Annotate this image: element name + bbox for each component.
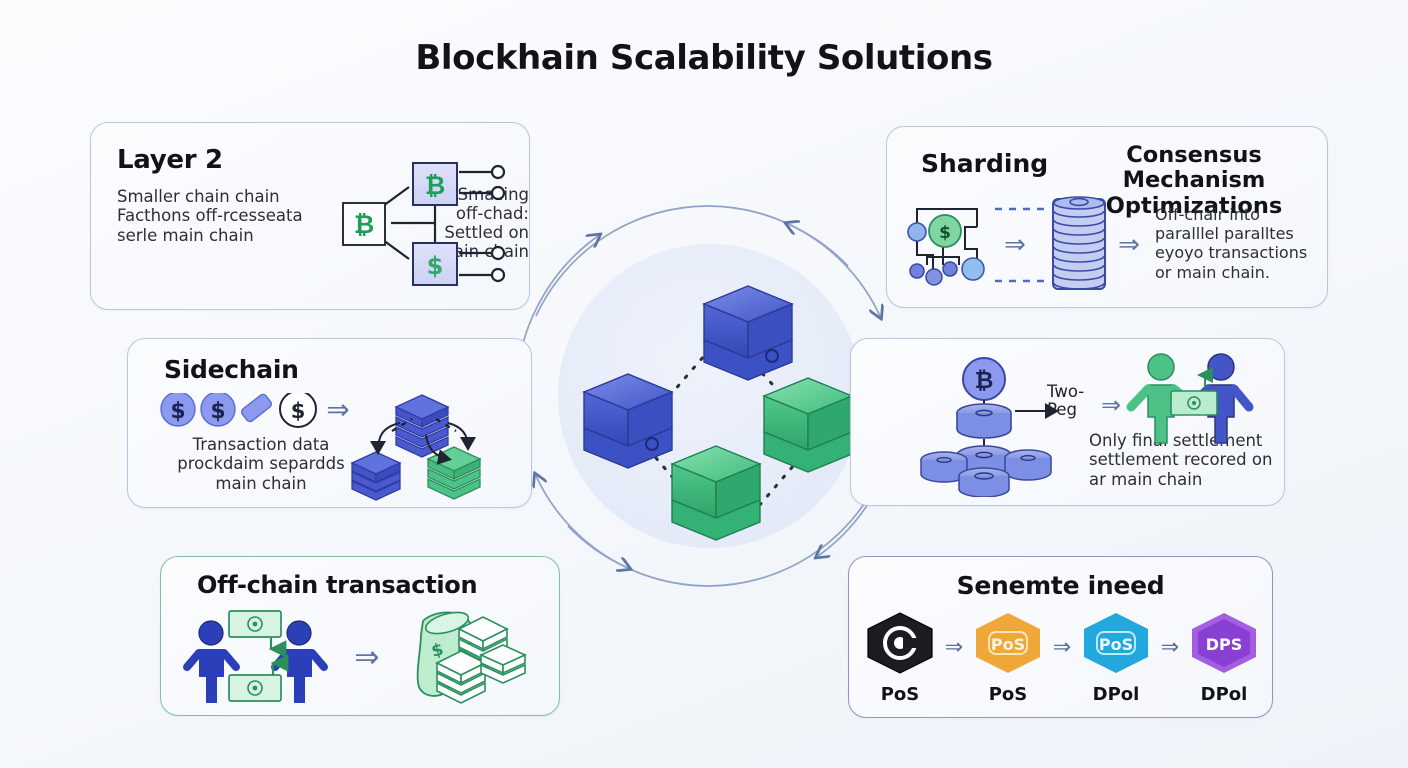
card-sidechain-title: Sidechain — [164, 355, 299, 384]
sidechain-diagram: $ $ $ ⇒ — [156, 393, 516, 503]
handshake-cash-icon — [1131, 354, 1249, 443]
arrow-right-icon: ⇒ — [1101, 391, 1121, 419]
arrow-right-icon: ⇒ — [1118, 230, 1140, 260]
svg-text:$: $ — [210, 399, 225, 424]
card-consensus-chain[interactable]: Senemte ineed PoS ⇒ PoS P — [848, 556, 1273, 718]
consensus-step-2-label: PoS — [971, 684, 1045, 705]
coin-stack-icon — [1053, 197, 1105, 289]
shard-network-icon: $ — [908, 209, 984, 285]
arrow-right-icon: ⇒ — [354, 640, 379, 675]
consensus-step-4-label: DPol — [1187, 684, 1261, 705]
sharding-diagram: $ ⇒ — [903, 193, 1153, 297]
hexagon-dark-icon — [863, 611, 937, 675]
svg-text:₿: ₿ — [975, 368, 994, 394]
infographic-canvas: Blockhain Scalability Solutions — [0, 0, 1408, 768]
svg-text:₿: ₿ — [354, 210, 374, 239]
database-node-icon — [921, 404, 1051, 497]
hexagon-purple-icon: DPS — [1187, 611, 1261, 675]
card-layer2-body: Smaller chain chain Facthons off-rcessea… — [117, 187, 317, 245]
dollar-coin-icon: $ — [201, 393, 235, 426]
hub-block-left — [584, 374, 672, 468]
card-sharding[interactable]: Sharding Consensus Mechanism Optimizatio… — [886, 126, 1328, 308]
card-offchain-title: Off-chain transaction — [197, 571, 477, 599]
hub-block-bottom — [672, 446, 760, 540]
arrow-right-icon: ⇒ — [945, 635, 963, 660]
offchain-diagram: ⇒ $ — [181, 605, 551, 711]
svg-text:DPS: DPS — [1206, 635, 1243, 654]
card-two-way-peg[interactable]: Two-Peg Only final settlement settlement… — [850, 338, 1285, 506]
token-icon — [240, 393, 273, 423]
svg-text:$: $ — [170, 399, 185, 424]
consensus-step-1[interactable]: PoS — [863, 611, 937, 705]
svg-text:PoS: PoS — [991, 635, 1025, 654]
central-hub — [508, 196, 908, 596]
dollar-circle-icon: $ — [280, 393, 316, 427]
person-icon — [275, 621, 324, 703]
consensus-step-3-label: DPol — [1079, 684, 1153, 705]
bitcoin-circle-icon: ₿ — [963, 358, 1005, 400]
hexagon-orange-icon: PoS — [971, 611, 1045, 675]
layer2-diagram: ₿ ₿ $ — [339, 159, 529, 289]
consensus-step-4[interactable]: DPS DPol — [1187, 611, 1261, 705]
page-title: Blockhain Scalability Solutions — [0, 38, 1408, 78]
hub-block-top — [704, 286, 792, 380]
two-way-peg-diagram: ₿ — [859, 347, 1279, 497]
arrow-right-icon: ⇒ — [1004, 230, 1026, 260]
consensus-step-row: PoS ⇒ PoS PoS ⇒ PoS DPol — [863, 611, 1261, 711]
consensus-step-1-label: PoS — [863, 684, 937, 705]
hexagon-cyan-icon: PoS — [1079, 611, 1153, 675]
svg-text:$: $ — [427, 252, 444, 280]
arrow-right-icon: ⇒ — [1161, 635, 1179, 660]
card-consensus-optimizations-body: Off-chair into paralllel paralltes eyoyo… — [1155, 205, 1315, 282]
card-layer2[interactable]: Layer 2 Smaller chain chain Facthons off… — [90, 122, 530, 310]
hub-block-right — [764, 378, 852, 472]
svg-text:$: $ — [291, 399, 306, 423]
dollar-coin-icon: $ — [161, 393, 195, 426]
block-stack-icon — [352, 395, 480, 500]
svg-text:₿: ₿ — [425, 171, 445, 200]
banknote-icon — [229, 611, 281, 649]
consensus-step-2[interactable]: PoS PoS — [971, 611, 1045, 705]
card-consensus-chain-title: Senemte ineed — [849, 571, 1272, 600]
card-sidechain[interactable]: Sidechain Transaction data prockdaim sep… — [127, 338, 532, 508]
card-layer2-title: Layer 2 — [117, 145, 223, 175]
svg-text:$: $ — [939, 223, 951, 243]
card-offchain-transaction[interactable]: Off-chain transaction — [160, 556, 560, 716]
card-sharding-title: Sharding — [921, 149, 1048, 178]
svg-text:PoS: PoS — [1099, 635, 1133, 654]
arrow-right-icon: ⇒ — [1053, 635, 1071, 660]
consensus-step-3[interactable]: PoS DPol — [1079, 611, 1153, 705]
arrow-right-icon: ⇒ — [326, 393, 349, 426]
